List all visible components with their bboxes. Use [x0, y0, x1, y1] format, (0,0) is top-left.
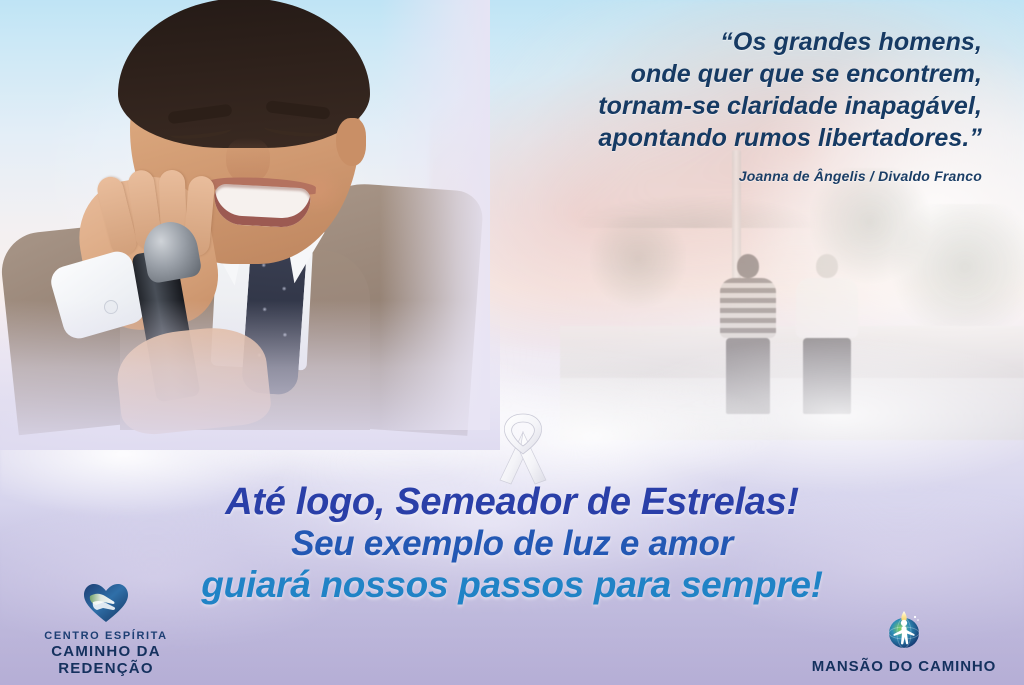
palm-tree-icon: [590, 216, 686, 312]
heart-hands-icon: [8, 583, 204, 628]
portrait-divaldo-franco: [0, 0, 470, 430]
ear: [336, 118, 366, 166]
globe-figure-flame-icon: [794, 607, 1014, 656]
logo-mansao-do-caminho: MANSÃO DO CAMINHO: [794, 607, 1014, 675]
mourning-ribbon-icon: [480, 404, 566, 490]
logo-left-line-1: CENTRO ESPÍRITA: [8, 630, 204, 643]
quote-line-2: onde quer que se encontrem,: [422, 58, 982, 90]
quote-line-1: “Os grandes homens,: [422, 26, 982, 58]
headline-line-1: Até logo, Semeador de Estrelas!: [0, 482, 1024, 523]
logo-left-line-2: CAMINHO DA REDENÇÃO: [8, 643, 204, 677]
quote-line-4: apontando rumos libertadores.”: [422, 122, 982, 154]
quote-author: Joanna de Ângelis / Divaldo Franco: [422, 168, 982, 184]
figure-head: [737, 254, 759, 278]
logo-centro-espirita: CENTRO ESPÍRITA CAMINHO DA REDENÇÃO: [8, 583, 204, 677]
memorial-poster: “Os grandes homens, onde quer que se enc…: [0, 0, 1024, 685]
headline-line-2: Seu exemplo de luz e amor: [0, 523, 1024, 564]
figure-head: [816, 254, 838, 278]
logo-right-line-2: MANSÃO DO CAMINHO: [794, 658, 1014, 675]
quote-line-3: tornam-se claridade inapagável,: [422, 90, 982, 122]
quote-block: “Os grandes homens, onde quer que se enc…: [422, 26, 982, 184]
